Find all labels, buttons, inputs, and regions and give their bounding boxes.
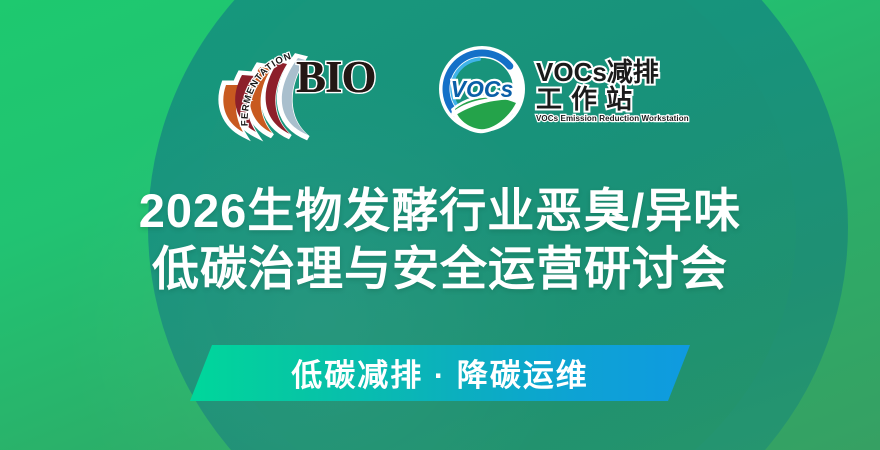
bio-fermentation-logo: FERMENTATION BIO BIO [210, 43, 400, 143]
sub-banner: 低碳减排 · 降碳运维 [190, 345, 690, 401]
vocs-badge: VOCs [434, 45, 530, 141]
vocs-subtitle-en: VOCs Emission Reduction Workstation [536, 114, 689, 123]
page-title: 2026生物发酵行业恶臭/异味 低碳治理与安全运营研讨会 [0, 182, 880, 298]
vocs-badge-text: VOCs [451, 76, 514, 102]
vocs-text-block: VOCs减排 工作站 VOCs Emission Reduction Works… [536, 59, 689, 123]
sub-banner-text: 低碳减排 · 降碳运维 [190, 345, 690, 401]
logo-row: FERMENTATION BIO BIO [0, 38, 880, 148]
title-line-2: 低碳治理与安全运营研讨会 [0, 240, 880, 298]
bio-wordmark: BIO [296, 55, 376, 100]
vocs-circle-leaf-icon: VOCs [434, 45, 530, 141]
title-line-1: 2026生物发酵行业恶臭/异味 [0, 182, 880, 240]
vocs-workstation-logo: VOCs VOCs减排 工作站 VOCs Emission Reduction … [434, 43, 670, 143]
vocs-title-line2: 工作站 [536, 86, 689, 113]
vocs-title-line1: VOCs减排 [536, 59, 689, 86]
conference-poster: FERMENTATION BIO BIO [0, 0, 880, 450]
